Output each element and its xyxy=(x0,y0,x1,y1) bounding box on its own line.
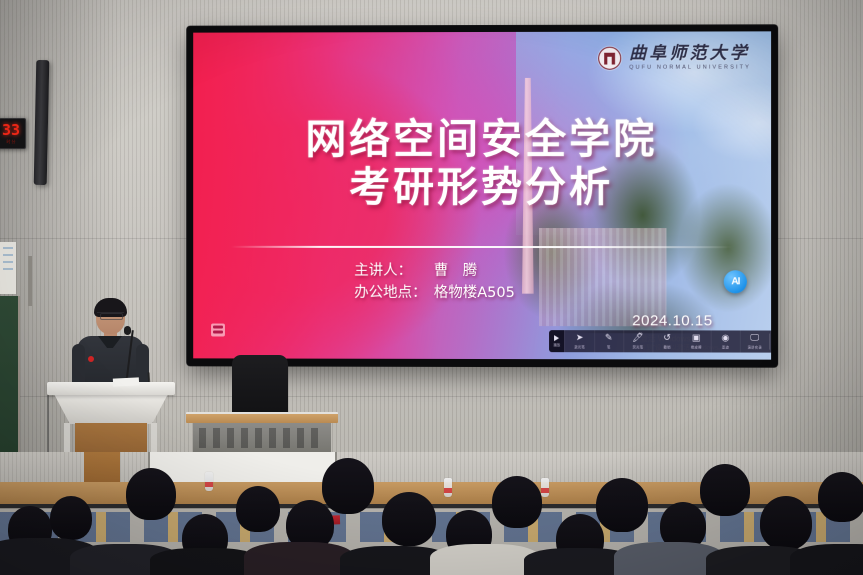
microphone-icon xyxy=(124,326,131,335)
audience-head xyxy=(596,478,648,532)
table-vent-slots xyxy=(199,428,325,448)
glasses-icon xyxy=(97,312,124,318)
slide-thumbnail-icon[interactable] xyxy=(211,324,225,337)
slide-date: 2024.10.15 xyxy=(632,312,712,329)
university-seal-icon xyxy=(598,47,621,70)
audience-head xyxy=(126,468,176,520)
lectern-notes xyxy=(113,377,139,386)
lectern-top xyxy=(47,382,175,395)
slide-title: 网络空间安全学院 考研形势分析 xyxy=(193,116,771,211)
presentation-toolbar[interactable]: 播放 ➤ 激光笔 ✎ 笔 🖊 荧光笔 ↺ 撤销 xyxy=(549,330,771,353)
audience-head xyxy=(382,492,436,546)
screen-record-glyph: 🖵 xyxy=(750,334,759,343)
ink-color-icon[interactable]: ◉ 墨迹 xyxy=(710,330,739,352)
presentation-display[interactable]: 曲阜师范大学 QUFU NORMAL UNIVERSITY 网络空间安全学院 考… xyxy=(187,25,777,366)
pen-label: 笔 xyxy=(607,344,611,349)
audience-body xyxy=(244,542,354,575)
led-clock-display: 33 时 分 xyxy=(0,118,26,149)
lecture-hall-screenshot: 33 时 分 曲阜师范大学 QUFU NORMAL UNIVERSITY xyxy=(0,0,863,575)
slide-title-line-1: 网络空间安全学院 xyxy=(193,116,771,164)
led-clock-digits: 33 xyxy=(2,123,20,138)
play-label: 播放 xyxy=(553,342,560,347)
audience-head xyxy=(492,476,542,528)
pointer-label: 激光笔 xyxy=(574,344,585,349)
pointer-glyph: ➤ xyxy=(576,333,584,342)
audience-head xyxy=(760,496,812,550)
led-clock-sub-label: 时 分 xyxy=(6,140,15,144)
audience-head xyxy=(818,472,863,522)
pen-glyph: ✎ xyxy=(605,333,613,342)
wall-speaker-icon xyxy=(34,60,50,185)
audience-head xyxy=(322,458,374,514)
presenter-badge xyxy=(88,356,94,362)
seated-audience xyxy=(0,452,863,575)
highlighter-glyph: 🖊 xyxy=(632,334,643,343)
wall-rail xyxy=(28,256,32,306)
audience-head xyxy=(236,486,280,532)
water-bottle xyxy=(205,472,213,491)
wps-ai-assistant-icon[interactable]: AI xyxy=(724,270,747,293)
university-name-en: QUFU NORMAL UNIVERSITY xyxy=(629,66,751,72)
eraser-glyph: ▣ xyxy=(692,334,701,343)
eraser-icon[interactable]: ▣ 橡皮擦 xyxy=(681,330,710,352)
slide-canvas: 曲阜师范大学 QUFU NORMAL UNIVERSITY 网络空间安全学院 考… xyxy=(193,31,771,359)
screen-record-icon[interactable]: 🖵 演讲实录 xyxy=(740,330,769,352)
water-bottle xyxy=(444,478,452,497)
wall-poster xyxy=(0,242,16,294)
undo-icon[interactable]: ↺ 撤销 xyxy=(652,330,681,352)
pointer-icon[interactable]: ➤ 激光笔 xyxy=(565,330,594,352)
audience-head xyxy=(50,496,92,540)
play-icon[interactable]: 播放 xyxy=(549,330,564,352)
pen-icon[interactable]: ✎ 笔 xyxy=(594,330,623,352)
audience-head xyxy=(700,464,750,516)
ink-color-glyph: ◉ xyxy=(722,334,730,343)
screen-record-label: 演讲实录 xyxy=(747,344,761,349)
highlighter-label: 荧光笔 xyxy=(632,344,643,349)
university-name-block: 曲阜师范大学 QUFU NORMAL UNIVERSITY xyxy=(629,45,751,71)
undo-glyph: ↺ xyxy=(663,334,671,343)
slide-speaker-info: 主讲人： 曹 腾 办公地点： 格物楼A505 xyxy=(354,260,515,305)
water-bottle xyxy=(541,478,549,497)
university-logo: 曲阜师范大学 QUFU NORMAL UNIVERSITY xyxy=(598,45,751,71)
ink-color-label: 墨迹 xyxy=(722,344,729,349)
table-top xyxy=(186,412,338,423)
lectern-body xyxy=(54,394,168,424)
slide-title-line-2: 考研形势分析 xyxy=(193,163,771,211)
audience-body xyxy=(790,544,863,575)
undo-label: 撤销 xyxy=(663,344,670,349)
green-chalkboard-icon xyxy=(0,296,20,456)
prev-slide-button[interactable]: ‹ 上一页 xyxy=(770,331,771,353)
university-name-cn: 曲阜师范大学 xyxy=(629,45,751,62)
office-chair-icon xyxy=(232,355,288,415)
eraser-label: 橡皮擦 xyxy=(691,344,702,349)
display-panel: 曲阜师范大学 QUFU NORMAL UNIVERSITY 网络空间安全学院 考… xyxy=(193,31,771,359)
highlighter-icon[interactable]: 🖊 荧光笔 xyxy=(623,330,652,352)
